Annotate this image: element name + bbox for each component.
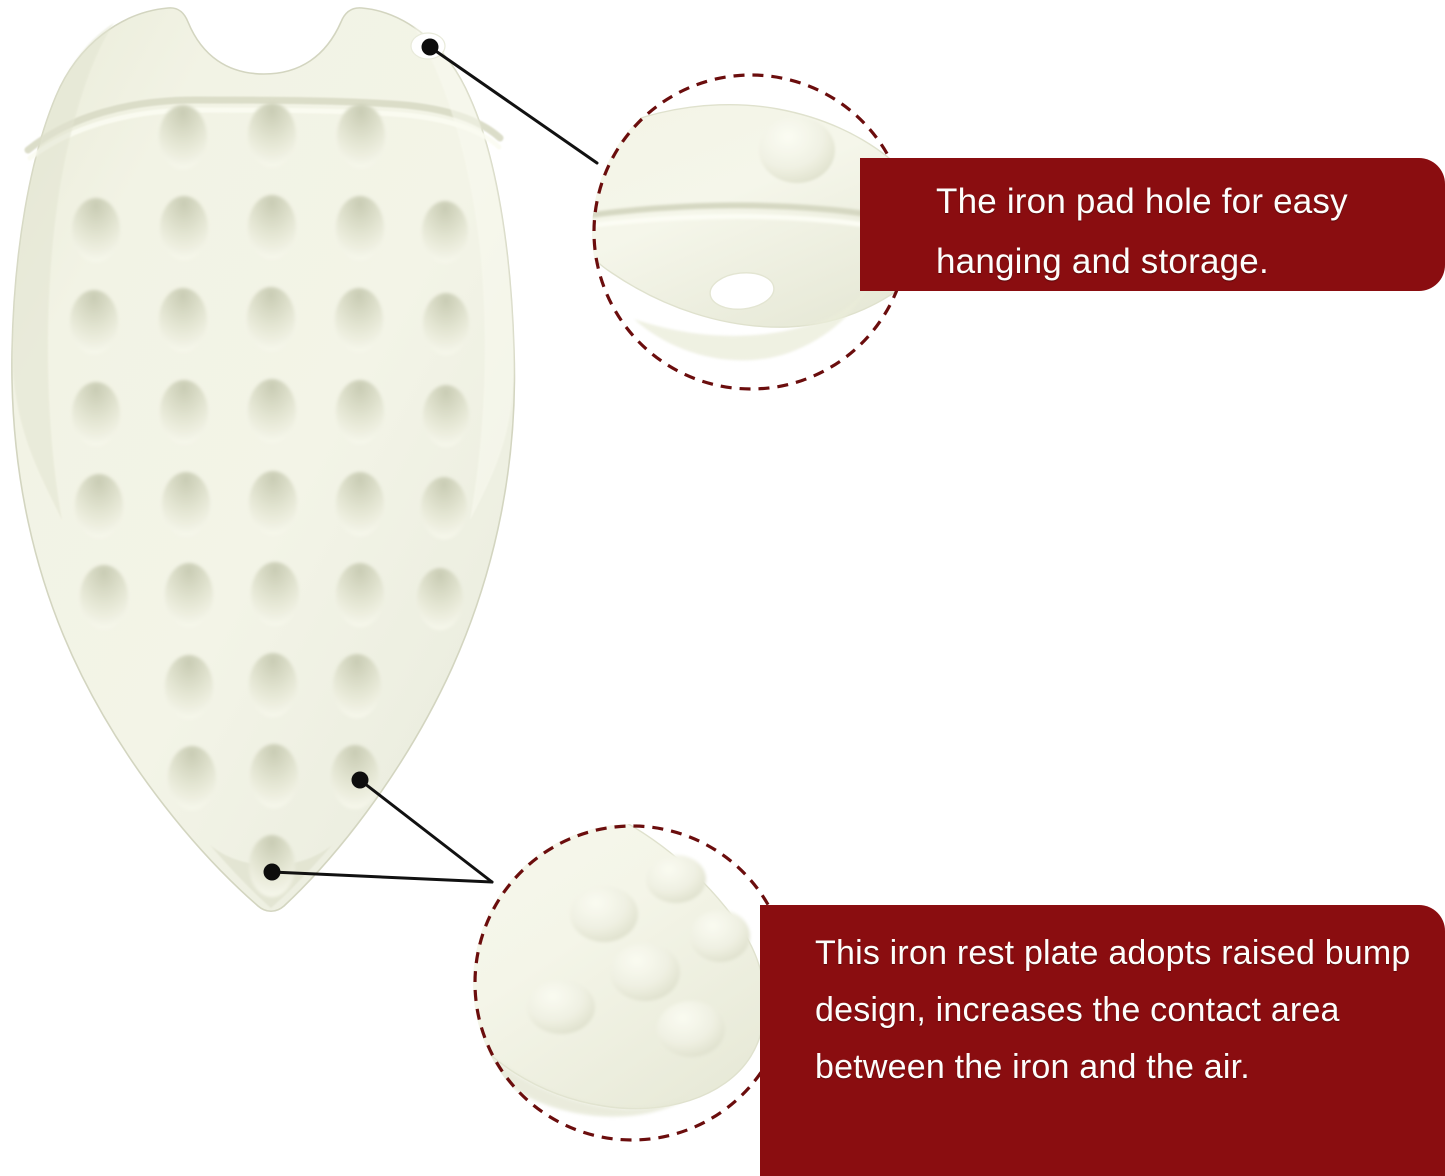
detail-zoom-raised-bumps (473, 824, 791, 1142)
detail-bottom-illustration (473, 824, 791, 1142)
iron-pad-illustration (0, 0, 560, 965)
callout-text-raised-bumps: This iron rest plate adopts raised bump … (815, 925, 1425, 1096)
callout-text-hanging-hole: The iron pad hole for easy hanging and s… (936, 172, 1425, 292)
raised-bump (759, 117, 835, 183)
hanging-hole (411, 33, 445, 59)
infographic-canvas: The iron pad hole for easy hanging and s… (0, 0, 1445, 1176)
callout-banner-raised-bumps: This iron rest plate adopts raised bump … (760, 905, 1445, 1176)
product-main-image (0, 0, 560, 965)
callout-banner-hanging-hole: The iron pad hole for easy hanging and s… (860, 158, 1445, 291)
